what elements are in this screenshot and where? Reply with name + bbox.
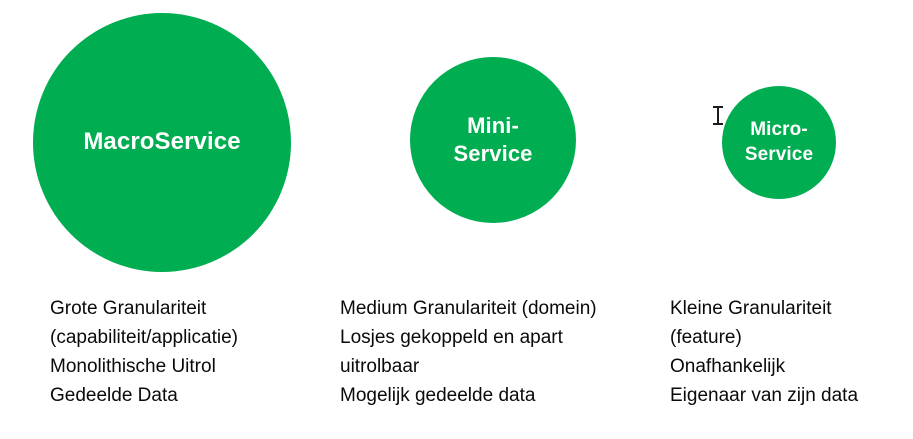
description-line: uitrolbaar — [340, 352, 660, 381]
bubble-miniservice-label: Mini- Service — [454, 112, 533, 168]
description-macroservice: Grote Granulariteit (capabiliteit/applic… — [50, 294, 340, 410]
ibeam-stem — [717, 107, 719, 124]
bubble-miniservice[interactable]: Mini- Service — [410, 57, 576, 223]
bubble-microservice[interactable]: Micro- Service — [722, 86, 836, 199]
description-line: Medium Granulariteit (domein) — [340, 294, 660, 323]
description-line: (capabiliteit/applicatie) — [50, 323, 340, 352]
text-ibeam-cursor-icon — [712, 106, 724, 125]
description-line: Losjes gekoppeld en apart — [340, 323, 660, 352]
bubble-macroservice[interactable]: MacroService — [33, 13, 291, 272]
ibeam-cap-bottom — [713, 123, 723, 125]
bubble-macroservice-label: MacroService — [83, 127, 240, 158]
description-line: Monolithische Uitrol — [50, 352, 340, 381]
description-line: Eigenaar van zijn data — [670, 381, 910, 410]
description-microservice: Kleine Granulariteit (feature) Onafhanke… — [670, 294, 910, 410]
description-line: Gedeelde Data — [50, 381, 340, 410]
description-line: Onafhankelijk — [670, 352, 910, 381]
ibeam-cap-top — [713, 106, 723, 108]
description-line: Mogelijk gedeelde data — [340, 381, 660, 410]
description-line: Kleine Granulariteit — [670, 294, 910, 323]
description-miniservice: Medium Granulariteit (domein) Losjes gek… — [340, 294, 660, 410]
description-line: (feature) — [670, 323, 910, 352]
bubble-microservice-label: Micro- Service — [745, 118, 813, 167]
diagram-canvas: MacroService Mini- Service Micro- Servic… — [0, 0, 913, 439]
description-line: Grote Granulariteit — [50, 294, 340, 323]
